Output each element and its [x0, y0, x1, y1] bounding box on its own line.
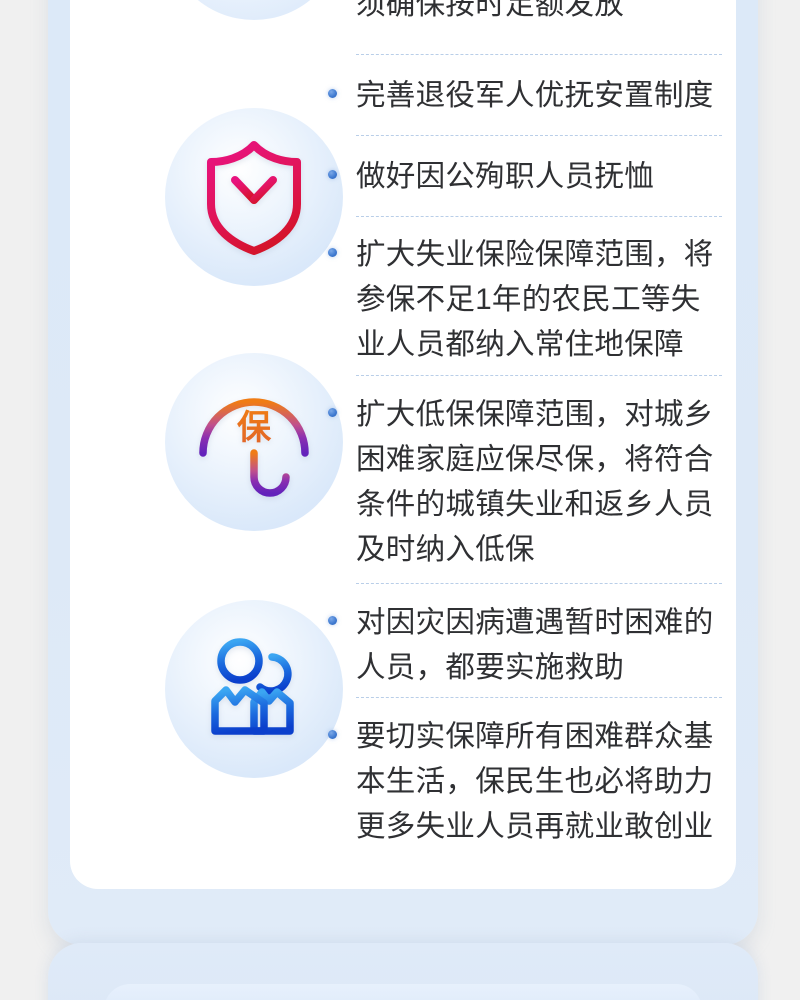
list-item-text: 扩大低保保障范围，对城乡困难家庭应保尽保，将符合条件的城镇失业和返乡人员及时纳入… [356, 392, 722, 572]
divider-line [356, 216, 722, 217]
list-item-text: 须确保按时足额发放 [356, 0, 722, 27]
bullet-dot [328, 616, 337, 625]
people-group-icon [198, 635, 310, 743]
umbrella-insurance-icon: 保 [194, 381, 314, 503]
list-item-text: 对因灾因病遭遇暂时困难的人员，都要实施救助 [356, 600, 722, 690]
list-item-text: 完善退役军人优抚安置制度 [356, 73, 722, 118]
list-item-text: 要切实保障所有困难群众基本生活，保民生也必将助力更多失业人员再就业敢创业 [356, 714, 722, 849]
next-section-card: 更多利好措施助力稳就业 [48, 943, 758, 1000]
shield-yuan-icon [198, 138, 310, 256]
divider-line [356, 375, 722, 376]
icon-bubble-partial [165, 0, 343, 20]
divider-line [356, 583, 722, 584]
bullet-dot [328, 730, 337, 739]
list-item: 要切实保障所有困难群众基本生活，保民生也必将助力更多失业人员再就业敢创业 [328, 714, 722, 849]
list-item-text: 扩大失业保险保障范围，将参保不足1年的农民工等失业人员都纳入常住地保障 [356, 232, 722, 367]
list-item: 做好因公殉职人员抚恤 [328, 154, 722, 199]
list-item: 须确保按时足额发放 [328, 0, 722, 27]
bullet-dot [328, 408, 337, 417]
list-item: 扩大低保保障范围，对城乡困难家庭应保尽保，将符合条件的城镇失业和返乡人员及时纳入… [328, 392, 722, 572]
list-item: 完善退役军人优抚安置制度 [328, 73, 722, 118]
text-column: 须确保按时足额发放 完善退役军人优抚安置制度 做好因公殉职人员抚恤 [328, 0, 736, 889]
list-item-text: 做好因公殉职人员抚恤 [356, 154, 722, 199]
bullet-dot [328, 248, 337, 257]
icon-bubble-shield-yuan [165, 108, 343, 286]
list-item: 对因灾因病遭遇暂时困难的人员，都要实施救助 [328, 600, 722, 690]
next-section-header: 更多利好措施助力稳就业 [104, 984, 702, 1000]
icon-bubble-people [165, 600, 343, 778]
bullet-dot [328, 89, 337, 98]
divider-line [356, 54, 722, 55]
infographic-page: 保 [0, 0, 800, 1000]
divider-line [356, 135, 722, 136]
icon-bubble-umbrella: 保 [165, 353, 343, 531]
divider-line [356, 697, 722, 698]
content-rows: 保 [70, 0, 736, 889]
main-content-card: 保 [48, 0, 758, 945]
main-card-inner-panel: 保 [70, 0, 736, 889]
bullet-dot [328, 170, 337, 179]
icon-column: 保 [70, 0, 328, 889]
list-item: 扩大失业保险保障范围，将参保不足1年的农民工等失业人员都纳入常住地保障 [328, 232, 722, 367]
svg-text:保: 保 [237, 409, 272, 447]
